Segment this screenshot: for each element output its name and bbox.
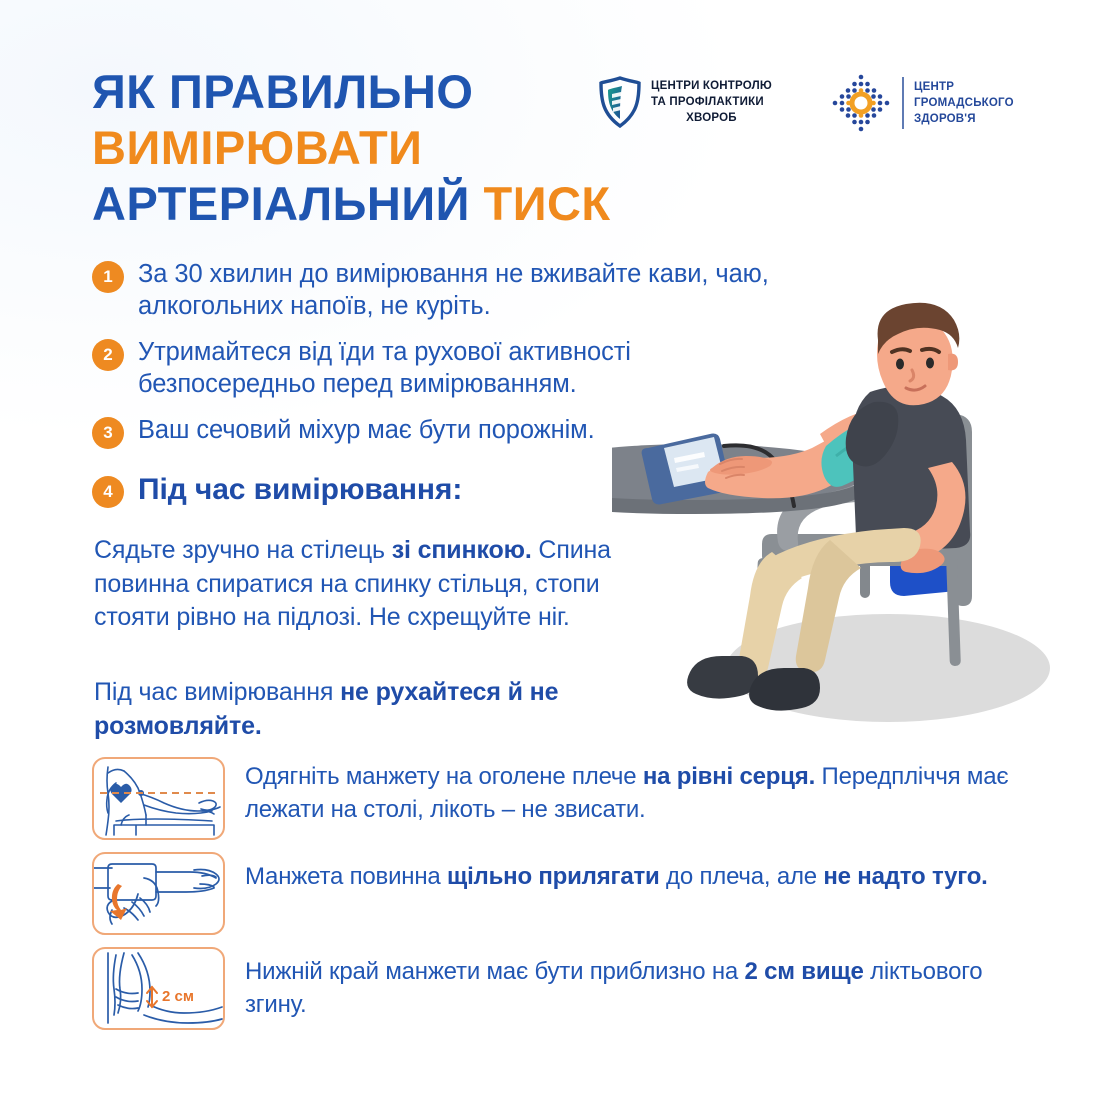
logo-cdc-line-1: ЦЕНТРИ КОНТРОЛЮ (651, 78, 772, 94)
chair-leg-mid (860, 558, 870, 598)
tips-list: Одягніть манжету на оголене плече на рів… (92, 757, 1042, 1042)
cuff-fit-hand-icon (92, 852, 225, 935)
tip2-part-a: Манжета повинна (245, 863, 447, 890)
step-badge-3: 3 (92, 417, 124, 449)
tip2-bold-2: не надто туго. (823, 863, 987, 890)
dotted-diamond-icon (830, 72, 892, 134)
title-line-3: АРТЕРІАЛЬНИЙ ТИСК (92, 180, 611, 227)
title-line-3-orange: ТИСК (483, 177, 610, 230)
logo-phc-text: ЦЕНТР ГРОМАДСЬКОГО ЗДОРОВ'Я (914, 79, 1014, 128)
logo-cdc-line-3: ХВОРОБ (651, 110, 772, 126)
cuff-2cm-above-elbow-icon: 2 см (92, 947, 225, 1030)
step-badge-4: 4 (92, 476, 124, 508)
logo-phc-line-2: ГРОМАДСЬКОГО (914, 95, 1014, 111)
tip-item-2: Манжета повинна щільно прилягати до плеч… (92, 852, 1042, 935)
tip-text-1: Одягніть манжету на оголене плече на рів… (245, 757, 1042, 826)
step-text-3: Ваш сечовий міхур має бути порожнім. (138, 414, 595, 446)
steps-list: 1 За 30 хвилин до вимірювання не вживайт… (92, 258, 792, 522)
tip3-bold: 2 см вище (745, 958, 864, 985)
title-line-2: ВИМІРЮВАТИ (92, 124, 611, 171)
tip-text-3: Нижній край манжети має бути приблизно н… (245, 947, 1042, 1021)
shield-icon (598, 76, 642, 128)
logo-phc-line-1: ЦЕНТР (914, 79, 1014, 95)
paragraph-sitting-posture: Сядьте зручно на стілець зі спинкою. Спи… (94, 534, 654, 635)
tip3-part-a: Нижній край манжети має бути приблизно н… (245, 958, 745, 985)
step-text-1: За 30 хвилин до вимірювання не вживайте … (138, 258, 792, 323)
measure-arrow (147, 987, 157, 1007)
tip1-part-a: Одягніть манжету на оголене плече (245, 763, 643, 790)
step-item-2: 2 Утримайтеся від їди та рухової активно… (92, 336, 792, 401)
step-item-3: 3 Ваш сечовий міхур має бути порожнім. (92, 414, 792, 449)
shoe-front (687, 656, 758, 699)
title-line-1: ЯК ПРАВИЛЬНО (92, 68, 611, 115)
p2-part-a: Під час вимірювання (94, 678, 340, 706)
logo-cdc: ЦЕНТРИ КОНТРОЛЮ ТА ПРОФІЛАКТИКИ ХВОРОБ (598, 76, 772, 128)
tip2-bold: щільно прилягати (447, 863, 660, 890)
eye-right (926, 358, 934, 369)
logo-phc: ЦЕНТР ГРОМАДСЬКОГО ЗДОРОВ'Я (830, 72, 1014, 134)
logo-cdc-line-2: ТА ПРОФІЛАКТИКИ (651, 94, 772, 110)
step-badge-1: 1 (92, 261, 124, 293)
tip-item-3: 2 см Нижній край манжети має бути прибли… (92, 947, 1042, 1030)
logo-phc-line-3: ЗДОРОВ'Я (914, 111, 1014, 127)
header: ЯК ПРАВИЛЬНО ВИМІРЮВАТИ АРТЕРІАЛЬНИЙ ТИС… (0, 0, 1101, 235)
paragraph-stay-still: Під час вимірювання не рухайтеся й не ро… (94, 676, 634, 743)
tip1-bold: на рівні серця. (643, 763, 815, 790)
step-badge-2: 2 (92, 339, 124, 371)
p1-part-a: Сядьте зручно на стілець (94, 536, 392, 564)
tip-item-1: Одягніть манжету на оголене плече на рів… (92, 757, 1042, 840)
logo-divider (902, 77, 904, 129)
infographic-page: ЯК ПРАВИЛЬНО ВИМІРЮВАТИ АРТЕРІАЛЬНИЙ ТИС… (0, 0, 1101, 1097)
step-text-4: Під час вимірювання: (138, 471, 462, 509)
step-item-4: 4 Під час вимірювання: (92, 471, 792, 509)
page-title: ЯК ПРАВИЛЬНО ВИМІРЮВАТИ АРТЕРІАЛЬНИЙ ТИС… (92, 68, 611, 227)
tip2-part-b: до плеча, але (660, 863, 824, 890)
heart-level-arm-on-table-icon (92, 757, 225, 840)
title-line-3-blue: АРТЕРІАЛЬНИЙ (92, 177, 483, 230)
logo-cdc-text: ЦЕНТРИ КОНТРОЛЮ ТА ПРОФІЛАКТИКИ ХВОРОБ (651, 78, 772, 127)
ear (948, 354, 958, 371)
p1-bold: зі спинкою. (392, 536, 532, 564)
tip-text-2: Манжета повинна щільно прилягати до плеч… (245, 852, 988, 893)
step-text-2: Утримайтеся від їди та рухової активност… (138, 336, 792, 401)
measure-label: 2 см (162, 988, 194, 1005)
step-item-1: 1 За 30 хвилин до вимірювання не вживайт… (92, 258, 792, 323)
eye-left (896, 359, 904, 370)
